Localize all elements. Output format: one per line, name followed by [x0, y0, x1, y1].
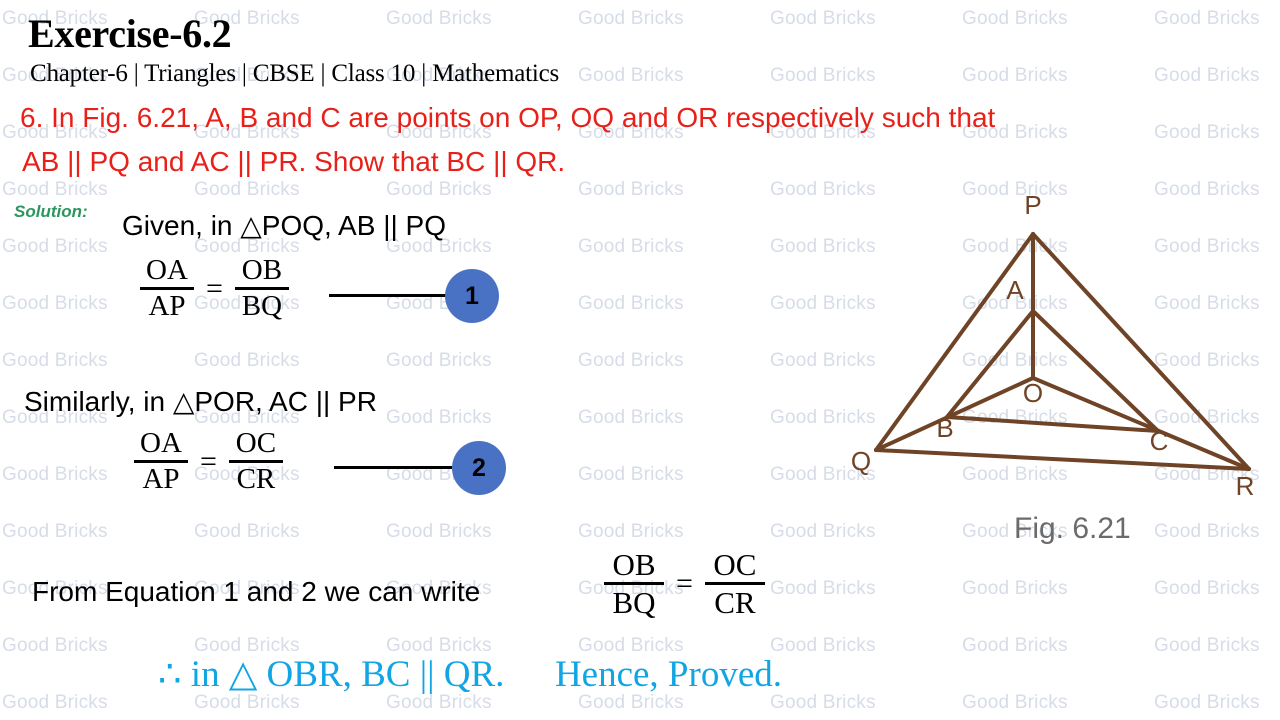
equation-1: OA AP = OB BQ	[140, 255, 289, 322]
numerator: OC	[232, 428, 280, 460]
equals-sign: =	[200, 445, 217, 479]
slide-canvas: Good BricksGood BricksGood BricksGood Br…	[0, 0, 1280, 720]
figure-caption: Fig. 6.21	[1014, 512, 1131, 546]
denominator: CR	[233, 463, 280, 495]
equation-badge-1: 1	[445, 269, 499, 323]
figure-point-labels: PQROABC	[851, 195, 1255, 501]
figure-label-r: R	[1236, 471, 1255, 501]
figure-label-c: C	[1150, 426, 1169, 456]
figure-label-o: O	[1023, 378, 1043, 408]
figure-segment-qr	[876, 450, 1249, 469]
given-statement: Given, in △POQ, AB || PQ	[122, 209, 446, 242]
denominator: CR	[710, 585, 759, 619]
question-line-1: 6. In Fig. 6.21, A, B and C are points o…	[20, 102, 995, 134]
figure-label-q: Q	[851, 446, 871, 476]
figure-segment-ab	[947, 311, 1033, 417]
breadcrumb: Chapter-6 | Triangles | CBSE | Class 10 …	[30, 60, 559, 88]
figure-label-p: P	[1024, 195, 1041, 220]
figure-segment-ac	[1033, 311, 1158, 431]
leader-rule-2	[334, 466, 452, 469]
leader-rule-1	[329, 294, 447, 297]
fraction-ob-bq: OB BQ	[604, 548, 664, 619]
figure-segment-oq	[876, 378, 1033, 450]
proved-statement: ∴ in △ OBR, BC || QR.	[158, 654, 504, 695]
equation-2: OA AP = OC CR	[134, 428, 283, 495]
numerator: OA	[142, 255, 192, 287]
conclusion-text: From Equation 1 and 2 we can write	[32, 576, 480, 608]
denominator: AP	[144, 290, 189, 322]
numerator: OC	[709, 548, 760, 582]
page-title: Exercise-6.2	[28, 10, 231, 57]
fraction-ob-bq: OB BQ	[235, 255, 289, 322]
similarly-statement: Similarly, in △POR, AC || PR	[24, 385, 377, 418]
figure-label-b: B	[936, 413, 953, 443]
proved-tag: Hence, Proved.	[555, 654, 782, 695]
numerator: OB	[238, 255, 286, 287]
equals-sign: =	[206, 272, 223, 306]
figure-svg: PQROABC	[840, 195, 1280, 555]
question-line-2: AB || PQ and AC || PR. Show that BC || Q…	[22, 146, 565, 178]
equals-sign: =	[676, 567, 693, 601]
figure-segment-pr	[1033, 234, 1249, 469]
fraction-oa-ap: OA AP	[134, 428, 188, 495]
proved-line: ∴ in △ OBR, BC || QR. Hence, Proved.	[158, 652, 782, 696]
denominator: BQ	[608, 585, 659, 619]
fraction-oc-cr: OC CR	[705, 548, 765, 619]
figure-6-21: PQROABC	[840, 195, 1280, 555]
denominator: AP	[138, 463, 183, 495]
fraction-oa-ap: OA AP	[140, 255, 194, 322]
numerator: OB	[608, 548, 659, 582]
fraction-oc-cr: OC CR	[229, 428, 283, 495]
numerator: OA	[136, 428, 186, 460]
denominator: BQ	[238, 290, 286, 322]
solution-label: Solution:	[14, 202, 88, 222]
figure-segments	[876, 234, 1249, 469]
content-layer: Exercise-6.2 Chapter-6 | Triangles | CBS…	[0, 0, 1280, 720]
figure-label-a: A	[1006, 275, 1024, 305]
equation-badge-2: 2	[452, 441, 506, 495]
equation-3: OB BQ = OC CR	[604, 548, 765, 619]
